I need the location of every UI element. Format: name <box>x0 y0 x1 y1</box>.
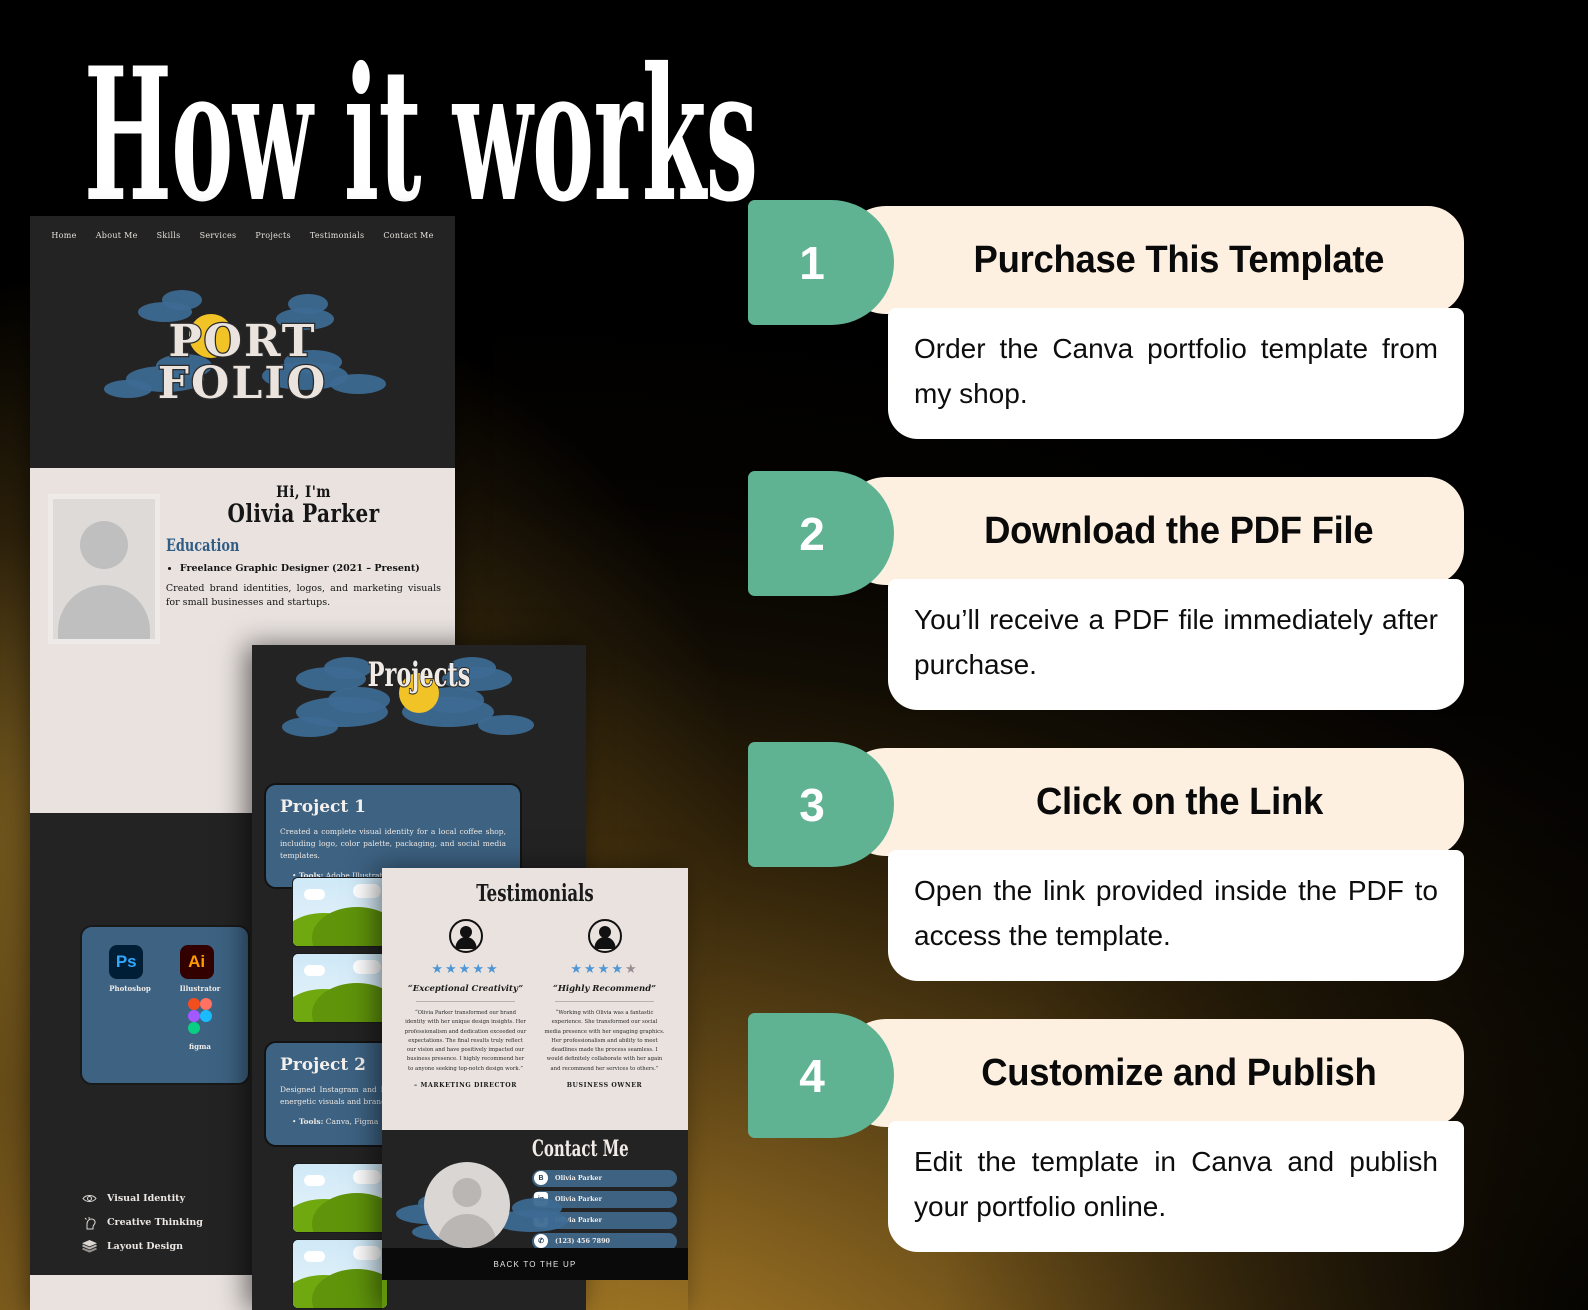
contact-label: (123) 456 7890 <box>555 1237 610 1245</box>
step-title-pill-2: Download the PDF File <box>840 477 1464 585</box>
step-card-4: Customize and Publish 4 Edit the templat… <box>748 1013 1464 1252</box>
photoshop-icon: Ps <box>109 945 143 979</box>
skill-label: Layout Design <box>107 1241 183 1252</box>
about-bullet: Freelance Graphic Designer (2021 – Prese… <box>180 562 441 576</box>
nav-item-skills[interactable]: Skills <box>157 231 181 240</box>
tool-illustrator: Ai Illustrator <box>180 945 221 993</box>
step-number-badge-4: 4 <box>748 1013 894 1138</box>
poster-canvas: How it works Home About Me Skills Servic… <box>0 0 1588 1310</box>
linkedin-icon: in <box>534 1192 548 1206</box>
contact-row-linkedin[interactable]: in Olivia Parker <box>532 1191 677 1208</box>
step-number-badge-3: 3 <box>748 742 894 867</box>
tool-figma: figma <box>186 997 214 1051</box>
step-number-badge-1: 1 <box>748 200 894 325</box>
step-title: Click on the Link <box>1036 781 1323 824</box>
step-number: 2 <box>799 507 825 561</box>
step-body: Order the Canva portfolio template from … <box>914 326 1438 417</box>
step-body-pill-4: Edit the template in Canva and publish y… <box>888 1121 1464 1252</box>
skill-label: Visual Identity <box>107 1193 185 1204</box>
project-image-2 <box>292 953 388 1023</box>
step-number: 3 <box>799 778 825 832</box>
rating-stars: ★★★★★ <box>404 961 527 977</box>
avatar-body <box>58 585 150 644</box>
brain-hand-icon <box>82 1215 97 1230</box>
testimonial-role: BUSINESS OWNER <box>543 1082 666 1089</box>
step-title-pill-1: Purchase This Template <box>840 206 1464 314</box>
back-to-top-bar[interactable]: BACK TO THE UP <box>382 1248 688 1280</box>
phone-icon: ✆ <box>534 1234 548 1248</box>
nav-item-about[interactable]: About Me <box>96 231 138 240</box>
nav-item-contact[interactable]: Contact Me <box>383 231 433 240</box>
step-body-pill-1: Order the Canva portfolio template from … <box>888 308 1464 439</box>
step-body-pill-2: You’ll receive a PDF file immediately af… <box>888 579 1464 710</box>
step-card-1: Purchase This Template 1 Order the Canva… <box>748 200 1464 439</box>
step-title: Customize and Publish <box>981 1052 1376 1095</box>
illustrator-icon: Ai <box>180 945 214 979</box>
nav-item-home[interactable]: Home <box>51 231 76 240</box>
back-to-top-label: BACK TO THE UP <box>493 1260 576 1269</box>
contact-row-instagram[interactable]: ◎ Olivia Parker <box>532 1212 677 1229</box>
tool-label-illustrator: Illustrator <box>180 984 221 993</box>
tool-label-photoshop: Photoshop <box>109 984 151 993</box>
instagram-icon: ◎ <box>534 1213 548 1227</box>
testimonials-section: Testimonials ★★★★★ “Exceptional Creativi… <box>382 868 688 1130</box>
contact-label: Olivia Parker <box>555 1174 602 1182</box>
project-tools-label: Tools: <box>299 1117 324 1126</box>
divider <box>416 1001 515 1002</box>
project-title: Project 1 <box>280 797 506 817</box>
portfolio-logo: PORT FOLIO <box>93 296 393 426</box>
portfolio-hero: PORT FOLIO <box>30 254 455 468</box>
step-body: Open the link provided inside the PDF to… <box>914 868 1438 959</box>
contact-row-behance[interactable]: B Olivia Parker <box>532 1170 677 1187</box>
nav-item-projects[interactable]: Projects <box>255 231 290 240</box>
contact-label: Olivia Parker <box>555 1195 602 1203</box>
portfolio-nav: Home About Me Skills Services Projects T… <box>30 216 455 254</box>
nav-item-testimonials[interactable]: Testimonials <box>310 231 364 240</box>
testimonials-title: Testimonials <box>425 880 645 907</box>
avatar-head <box>80 521 128 569</box>
contact-label: Olivia Parker <box>555 1216 602 1224</box>
project-image-4 <box>292 1239 388 1309</box>
testimonial-body: “Working with Olivia was a fantastic exp… <box>543 1009 666 1074</box>
tools-card: Ps Photoshop Ai Illustrator <box>80 925 250 1085</box>
about-photo-placeholder <box>48 494 160 644</box>
portfolio-preview-testimonials: Testimonials ★★★★★ “Exceptional Creativi… <box>382 868 688 1310</box>
projects-header: Projects <box>252 645 586 765</box>
step-body: You’ll receive a PDF file immediately af… <box>914 597 1438 688</box>
project-description: Created a complete visual identity for a… <box>280 826 506 862</box>
behance-icon: B <box>534 1171 548 1185</box>
testimonial-card: ★★★★★ “Exceptional Creativity” “Olivia P… <box>396 919 535 1089</box>
skill-label: Creative Thinking <box>107 1217 203 1228</box>
projects-title: Projects <box>368 655 471 695</box>
logo-line-2: FOLIO <box>158 358 327 409</box>
eye-icon <box>82 1191 97 1206</box>
step-card-3: Click on the Link 3 Open the link provid… <box>748 742 1464 981</box>
testimonial-body: “Olivia Parker transformed our brand ide… <box>404 1009 527 1074</box>
testimonial-quote: “Highly Recommend” <box>543 984 666 994</box>
about-name: Olivia Parker <box>193 499 413 528</box>
project-tools-value: Canva, Figma <box>326 1117 379 1126</box>
step-body-pill-3: Open the link provided inside the PDF to… <box>888 850 1464 981</box>
testimonial-card: ★★★★★ “Highly Recommend” “Working with O… <box>535 919 674 1089</box>
testimonial-role: – MARKETING DIRECTOR <box>404 1082 527 1089</box>
step-title: Download the PDF File <box>984 510 1373 553</box>
project-image-1 <box>292 877 388 947</box>
nav-item-services[interactable]: Services <box>200 231 237 240</box>
avatar <box>588 919 622 953</box>
step-title-pill-3: Click on the Link <box>840 748 1464 856</box>
tool-photoshop: Ps Photoshop <box>109 945 151 993</box>
step-title-pill-4: Customize and Publish <box>840 1019 1464 1127</box>
contact-section: Contact Me B Olivia Parker in Olivia Par… <box>382 1130 688 1280</box>
step-number-badge-2: 2 <box>748 471 894 596</box>
step-title: Purchase This Template <box>974 239 1385 282</box>
step-card-2: Download the PDF File 2 You’ll receive a… <box>748 471 1464 710</box>
contact-avatar <box>424 1162 510 1248</box>
project-image-3 <box>292 1163 388 1233</box>
page-title: How it works <box>84 44 757 227</box>
layers-icon <box>82 1239 97 1254</box>
step-body: Edit the template in Canva and publish y… <box>914 1139 1438 1230</box>
about-section-label: Education <box>166 536 375 556</box>
figma-icon <box>186 997 214 1037</box>
rating-stars: ★★★★★ <box>543 961 666 977</box>
avatar <box>449 919 483 953</box>
contact-title: Contact Me <box>532 1136 631 1162</box>
divider <box>555 1001 654 1002</box>
testimonial-quote: “Exceptional Creativity” <box>404 984 527 994</box>
about-paragraph: Created brand identities, logos, and mar… <box>166 582 441 611</box>
step-number: 4 <box>799 1049 825 1103</box>
step-number: 1 <box>799 236 825 290</box>
contact-row-phone[interactable]: ✆ (123) 456 7890 <box>532 1233 677 1250</box>
tool-label-figma: figma <box>186 1042 214 1051</box>
